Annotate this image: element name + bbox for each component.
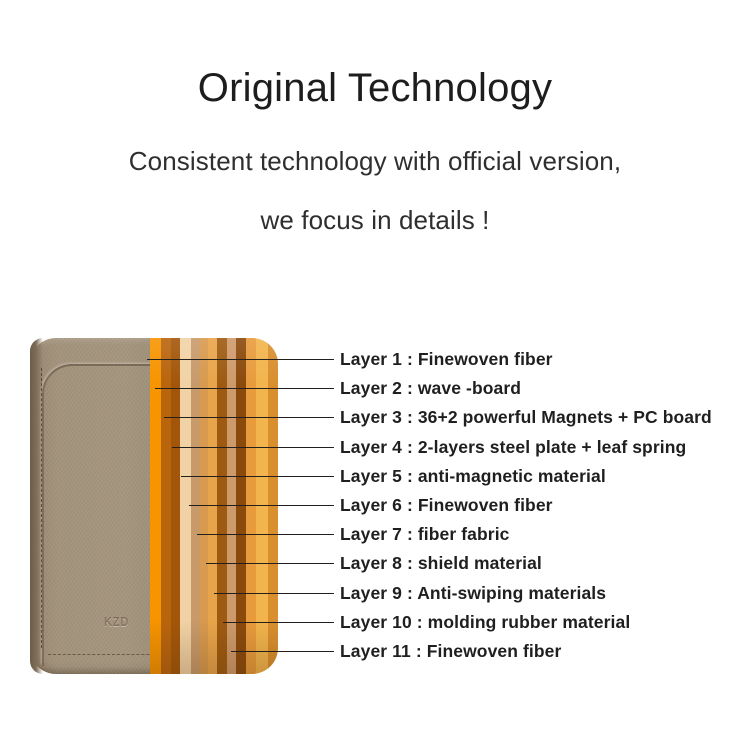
- leader-line-layer-11: [231, 651, 334, 652]
- leader-line-layer-8: [206, 563, 334, 564]
- layer-label-6: Layer 6 : Finewoven fiber: [340, 495, 553, 516]
- layer-label-9: Layer 9 : Anti-swiping materials: [340, 583, 606, 604]
- layer-label-11: Layer 11 : Finewoven fiber: [340, 641, 561, 662]
- leader-line-layer-7: [197, 534, 334, 535]
- leader-line-layer-2: [155, 388, 334, 389]
- layer-label-5: Layer 5 : anti-magnetic material: [340, 466, 606, 487]
- leader-line-layer-6: [189, 505, 334, 506]
- infographic-page: Original Technology Consistent technolog…: [0, 0, 750, 750]
- leader-line-layer-3: [164, 417, 334, 418]
- layer-label-7: Layer 7 : fiber fabric: [340, 524, 509, 545]
- layer-label-10: Layer 10 : molding rubber material: [340, 612, 630, 633]
- layer-label-3: Layer 3 : 36+2 powerful Magnets + PC boa…: [340, 407, 712, 428]
- layer-label-1: Layer 1 : Finewoven fiber: [340, 349, 553, 370]
- leader-line-layer-4: [172, 447, 334, 448]
- layer-label-2: Layer 2 : wave -board: [340, 378, 521, 399]
- leader-line-layer-1: [147, 359, 334, 360]
- layer-callouts: Layer 1 : Finewoven fiberLayer 2 : wave …: [0, 0, 750, 750]
- layer-label-4: Layer 4 : 2-layers steel plate + leaf sp…: [340, 437, 686, 458]
- leader-line-layer-5: [181, 476, 334, 477]
- layer-label-8: Layer 8 : shield material: [340, 553, 542, 574]
- leader-line-layer-9: [214, 593, 334, 594]
- leader-line-layer-10: [223, 622, 334, 623]
